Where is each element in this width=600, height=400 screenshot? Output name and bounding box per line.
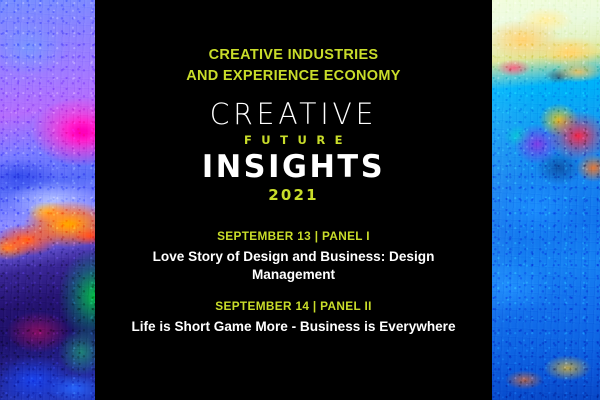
artwork-left-speckle-texture: [0, 0, 95, 400]
event-headline: CREATIVE INDUSTRIES AND EXPERIENCE ECONO…: [95, 45, 492, 86]
headline-line-2: AND EXPERIENCE ECONOMY: [95, 66, 492, 87]
session-list: SEPTEMBER 13 | PANEL I Love Story of Des…: [95, 229, 492, 336]
session-title: Life is Short Game More - Business is Ev…: [95, 318, 492, 336]
logo-word-creative: CREATIVE: [101, 100, 486, 129]
artwork-panel-right: [492, 0, 600, 400]
logo-word-future: FUTURE: [95, 135, 492, 147]
session-title: Love Story of Design and Business: Desig…: [95, 248, 492, 284]
session-date: SEPTEMBER 13 | PANEL I: [95, 229, 492, 244]
session-date: SEPTEMBER 14 | PANEL II: [95, 299, 492, 314]
logo-year: 2021: [95, 188, 492, 203]
artwork-right-speckle-texture: [492, 0, 600, 400]
session-item: SEPTEMBER 13 | PANEL I Love Story of Des…: [95, 229, 492, 284]
event-poster: CREATIVE INDUSTRIES AND EXPERIENCE ECONO…: [0, 0, 600, 400]
logo-word-insights: INSIGHTS: [99, 152, 488, 183]
session-item: SEPTEMBER 14 | PANEL II Life is Short Ga…: [95, 299, 492, 336]
event-logo-lockup: CREATIVE FUTURE INSIGHTS 2021: [95, 100, 492, 203]
headline-line-1: CREATIVE INDUSTRIES: [95, 45, 492, 66]
content-panel: CREATIVE INDUSTRIES AND EXPERIENCE ECONO…: [95, 0, 492, 400]
artwork-panel-left: [0, 0, 95, 400]
